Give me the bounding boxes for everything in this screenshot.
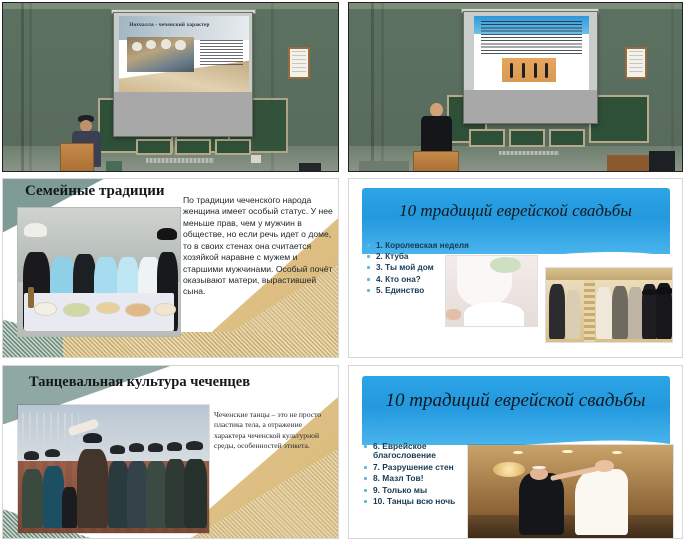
papakha-hat (83, 433, 102, 443)
dish (154, 303, 175, 315)
dish (125, 303, 151, 317)
wall-seam (671, 3, 674, 171)
family-photo (17, 207, 181, 337)
wall-seam (371, 3, 374, 171)
wall-outlet (251, 155, 261, 163)
chalk-tray (146, 158, 214, 163)
chalk-tray (499, 151, 559, 155)
slide-photo (502, 58, 556, 82)
papakha-hat (24, 223, 47, 237)
papakha-hat (129, 443, 144, 452)
list-item: 10. Танцы всю ночь (364, 497, 470, 506)
slide-body: По традиции чеченского народа женщина им… (183, 195, 333, 298)
chalkboard-panel (175, 139, 211, 155)
wall-seam (21, 3, 24, 171)
slide-dance-culture: Танцевальная культура чеченцев Чеченские… (2, 365, 339, 539)
desk-shadow (299, 163, 321, 172)
wall-seam (29, 3, 32, 171)
list-item: 7. Разрушение стен (364, 463, 470, 472)
chalkboard-panel (549, 129, 585, 147)
wall-poster (625, 47, 647, 79)
slide-body: Чеченские танцы – это не просто пластика… (214, 410, 329, 452)
chalkboard-panel (136, 139, 172, 155)
papakha-hat (157, 228, 176, 240)
screen-lower-blank (114, 92, 252, 136)
slide-title: Семейные традиции (25, 183, 165, 200)
flower-bouquet (490, 257, 521, 272)
classroom-photo-left: Нохчалла - чеченский характер (2, 2, 339, 172)
monitor (649, 151, 675, 171)
chalkboard (589, 95, 649, 143)
slide-jewish-wedding-1: 10 традиций еврейской свадьбы 1. Королев… (348, 178, 683, 358)
dancer-figure (22, 469, 43, 528)
slide-title: 10 традиций еврейской свадьбы (349, 201, 682, 221)
slide-photo (127, 37, 195, 72)
slide-title: 10 традиций еврейской свадьбы (349, 390, 682, 412)
slide-body-text (481, 21, 582, 55)
projected-slide (474, 16, 589, 96)
slide-jewish-wedding-2: 10 традиций еврейской свадьбы 6. Еврейск… (348, 365, 683, 539)
guest-figure (566, 290, 580, 339)
papakha-hat (45, 449, 60, 458)
bride-figure (575, 469, 628, 535)
screen-lower-blank (464, 90, 597, 123)
canopy-top (546, 268, 672, 280)
papakha-hat (24, 451, 39, 460)
podium (60, 143, 94, 172)
hand (446, 309, 461, 320)
projected-slide-title: Нохчалла - чеченский характер (129, 22, 209, 28)
papakha-hat (167, 442, 182, 451)
projector-screen (463, 11, 598, 124)
chuppah-ceremony-photo (545, 267, 673, 343)
groom-figure (612, 286, 628, 339)
speaker-torso (421, 116, 452, 156)
traditions-list: 6. Еврейское благословение 7. Разрушение… (364, 442, 470, 508)
classroom-photo-right (348, 2, 683, 172)
guest-figure (628, 287, 643, 339)
dancer-figure (165, 459, 186, 528)
guest-crowd (468, 515, 673, 539)
dancer-figure (127, 461, 148, 528)
bottle (28, 287, 34, 307)
dancer-figure (43, 466, 64, 527)
projector-screen: Нохчалла - чеченский характер (113, 12, 253, 137)
slide-body-text (200, 40, 243, 67)
gown (464, 302, 524, 326)
wedding-canopy-photo (445, 255, 538, 327)
child-figure (62, 487, 77, 528)
list-item: 6. Еврейское благословение (364, 442, 470, 461)
list-item: 9. Только мы (364, 486, 470, 495)
guest-figure (549, 284, 565, 339)
chalkboard-panel (469, 129, 505, 147)
dish (63, 303, 89, 317)
podium (413, 151, 459, 172)
wall-poster (288, 47, 310, 79)
projected-slide: Нохчалла - чеченский характер (119, 16, 249, 96)
dish (34, 302, 57, 316)
chalkboard-panel (215, 139, 251, 155)
black-hat (656, 287, 673, 294)
bride-figure (596, 287, 611, 339)
groom-figure (519, 473, 564, 535)
papakha-hat (148, 443, 163, 452)
slide-title: Танцевальная культура чеченцев (29, 374, 250, 391)
dancer-figure (108, 461, 129, 528)
collage-grid: Нохчалла - чеченский характер (0, 0, 685, 541)
dancer-figure (184, 459, 207, 528)
chalkboard-panel (509, 129, 545, 147)
dancers-photo (17, 404, 210, 534)
groom-head (530, 468, 548, 480)
wedding-dance-photo (467, 444, 674, 539)
wall-seam (381, 3, 384, 171)
chandelier (493, 462, 526, 477)
chair (106, 161, 122, 172)
papakha-hat (186, 441, 203, 450)
papakha-hat (110, 445, 125, 454)
dancer-figure (146, 461, 167, 528)
slide-family-traditions: Семейные традиции По традиции чеченского… (2, 178, 339, 358)
lead-dancer-figure (77, 449, 108, 528)
bench (359, 161, 409, 172)
list-item: 8. Мазл Тов! (364, 474, 470, 483)
list-item: 1. Королевская неделя (367, 241, 477, 250)
speaker-head (430, 103, 443, 117)
